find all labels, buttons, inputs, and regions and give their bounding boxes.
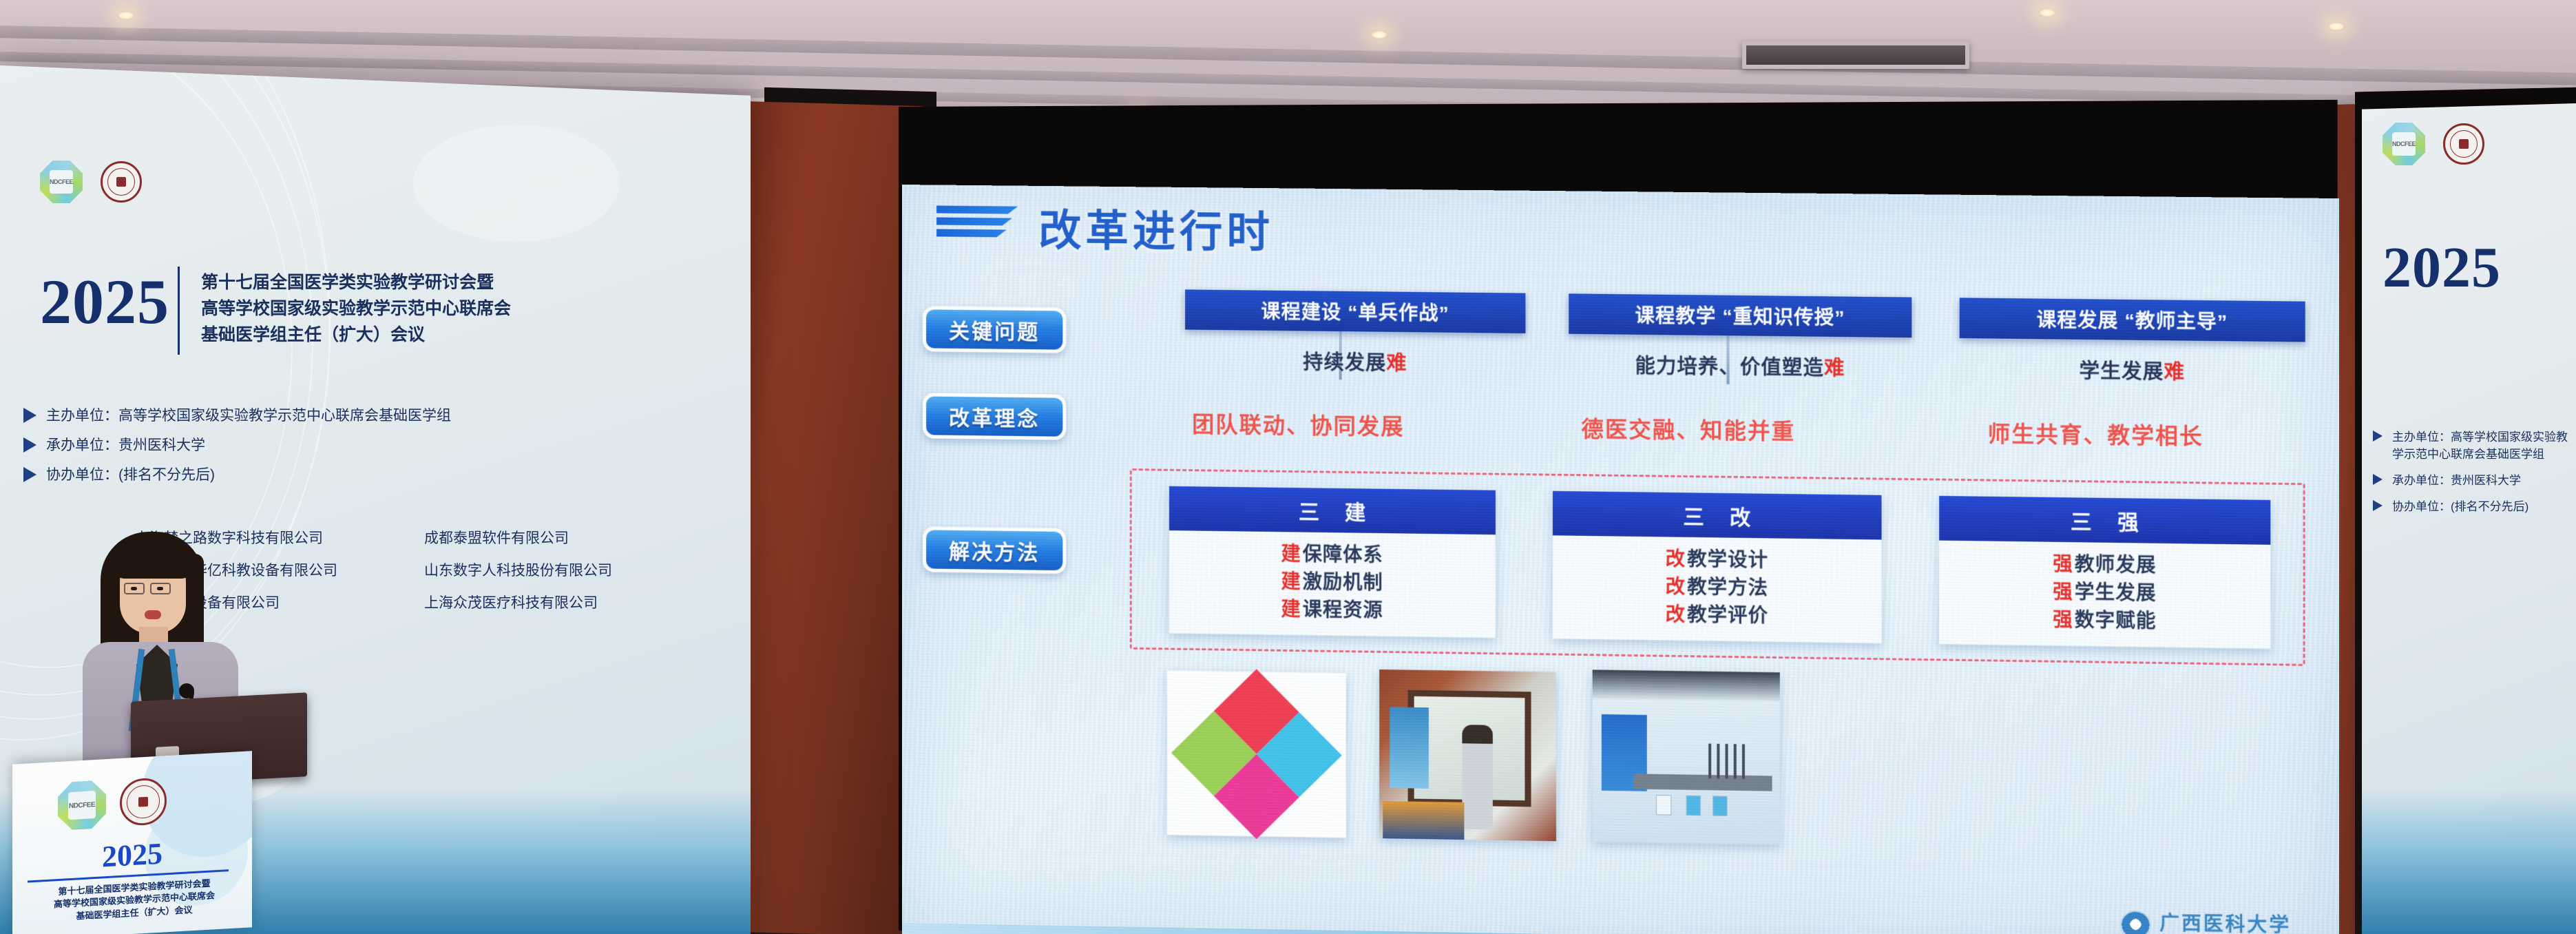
- solution-card: 三 建 建保障体系 建激励机制 建课程资源: [1169, 486, 1496, 638]
- backdrop-logos-right: NDCFEE: [2383, 123, 2484, 165]
- triangle-bullet-icon: [23, 437, 36, 453]
- lab-container: [1686, 795, 1701, 816]
- lab-container: [1713, 796, 1728, 816]
- backdrop-bullet-text: 主办单位：高等学校国家级实验教学示范中心联席会基础医学组: [46, 404, 451, 425]
- row-label-solutions: 解决方法: [923, 526, 1066, 574]
- solution-card-head: 三 改: [1553, 491, 1882, 540]
- reform-idea: 师生共育、教学相长: [1988, 417, 2203, 451]
- reform-idea: 德医交融、知能并重: [1581, 412, 1795, 446]
- backdrop-bullet-text: 协办单位：(排名不分先后): [46, 464, 215, 484]
- podium-title: 第十七届全国医学类实验教学研讨会暨 高等学校国家级实验教学示范中心联席会 基础医…: [22, 875, 247, 926]
- downlight-icon: [2327, 22, 2345, 31]
- display-screen: [1390, 707, 1429, 789]
- backdrop-title-line: 第十七届全国医学类实验教学研讨会暨: [201, 269, 511, 295]
- backdrop-title: 第十七届全国医学类实验教学研讨会暨 高等学校国家级实验教学示范中心联席会 基础医…: [201, 269, 511, 348]
- backdrop-bullet-text: 承办单位：贵州医科大学: [2392, 470, 2521, 488]
- key-problem-column: 课程发展 “教师主导” 学生发展难: [1960, 298, 2305, 386]
- university-seal-icon: [2443, 123, 2484, 165]
- backdrop-bullets-right: 主办单位：高等学校国家级实验教学示范中心联席会基础医学组 承办单位：贵州医科大学…: [2373, 427, 2576, 523]
- key-problem-head: 课程建设 “单兵作战”: [1185, 289, 1525, 333]
- ndcfee-logo-icon: NDCFEE: [2383, 123, 2425, 165]
- page-title: 改革进行时: [1038, 196, 1274, 260]
- solution-item: 改教学评价: [1553, 599, 1882, 631]
- backdrop-divider: [178, 267, 180, 355]
- triangle-bullet-icon: [2373, 430, 2383, 442]
- key-problem-column: 课程教学 “重知识传授” 能力培养、价值塑造难: [1569, 293, 1912, 382]
- solution-item: 强教师发展: [1939, 549, 2270, 581]
- downlight-icon: [117, 11, 135, 20]
- university-seal-icon: [120, 777, 167, 827]
- backdrop-bullets: 主办单位：高等学校国家级实验教学示范中心联席会基础医学组 承办单位：贵州医科大学…: [23, 404, 451, 493]
- projection-screen: 改革进行时 关键问题 课程建设 “单兵作战” 持续发展难 课程教学 “重知识传授…: [902, 185, 2339, 934]
- podium-logos: NDCFEE: [58, 776, 167, 831]
- stage-backdrop-right: NDCFEE 2025 主办单位：高等学校国家级实验教学示范中心联席会基础医学组…: [2362, 103, 2576, 934]
- eye: [131, 587, 137, 590]
- solution-item: 建激励机制: [1169, 566, 1496, 598]
- solution-card-head: 三 强: [1939, 496, 2270, 545]
- ndcfee-logo-icon: NDCFEE: [40, 160, 83, 203]
- hair-fringe: [113, 536, 193, 579]
- puzzle-icon: [1171, 669, 1342, 839]
- triangle-bullet-icon: [23, 408, 36, 423]
- key-problem-head: 课程教学 “重知识传授”: [1569, 293, 1912, 338]
- solution-card-head: 三 建: [1169, 486, 1496, 535]
- key-problem-sub: 学生发展难: [1960, 353, 2305, 386]
- sponsor-name: 山东数字人科技股份有限公司: [424, 559, 612, 580]
- backdrop-bullet-text: 主办单位：高等学校国家级实验教学示范中心联席会基础医学组: [2392, 427, 2576, 461]
- eye: [157, 587, 163, 590]
- mouth: [145, 610, 161, 619]
- solution-item: 改教学设计: [1553, 543, 1882, 575]
- triangle-bullet-icon: [2373, 500, 2383, 511]
- backdrop-bullet-row: 承办单位：贵州医科大学: [2373, 470, 2576, 488]
- lab-ceiling: [1593, 670, 1780, 701]
- pipette-rack: [1708, 744, 1746, 779]
- backdrop-year: 2025: [40, 265, 169, 338]
- backdrop-bullet-row: 承办单位：贵州医科大学: [23, 434, 451, 455]
- reform-idea: 团队联动、协同发展: [1192, 407, 1404, 442]
- solution-item: 强学生发展: [1939, 577, 2270, 609]
- backdrop-year-right: 2025: [2383, 234, 2501, 301]
- microphone-icon: [179, 683, 194, 698]
- solution-card-list: 建保障体系 建激励机制 建课程资源: [1169, 530, 1496, 638]
- downlight-icon: [2038, 8, 2056, 17]
- backdrop-bullet-row: 协办单位：(排名不分先后): [2373, 497, 2576, 514]
- podium-sign: NDCFEE 2025 第十七届全国医学类实验教学研讨会暨 高等学校国家级实验教…: [12, 751, 252, 934]
- backdrop-logos: NDCFEE: [40, 160, 142, 203]
- slide-title-area: 改革进行时: [936, 194, 1274, 260]
- sponsor-name: 上海众茂医疗科技有限公司: [424, 592, 598, 612]
- key-problem-column: 课程建设 “单兵作战” 持续发展难: [1185, 289, 1525, 377]
- solution-item: 强数字赋能: [1939, 604, 2270, 636]
- desk: [1383, 801, 1464, 840]
- conference-hall-scene: NDCFEE 2025 第十七届全国医学类实验教学研讨会暨 高等学校国家级实验教…: [0, 0, 2576, 934]
- key-problem-head: 课程发展 “教师主导”: [1960, 298, 2305, 342]
- backdrop-bullet-row: 主办单位：高等学校国家级实验教学示范中心联席会基础医学组: [23, 404, 451, 425]
- key-problem-sub: 能力培养、价值塑造难: [1569, 349, 1912, 382]
- sponsor-name: 成都泰盟软件有限公司: [424, 527, 569, 548]
- solution-card: 三 强 强教师发展 强学生发展 强数字赋能: [1939, 496, 2270, 649]
- classroom-photo: [1379, 670, 1556, 841]
- university-seal-icon: [101, 161, 142, 203]
- student-figure: [1463, 725, 1493, 830]
- lab-container: [1656, 795, 1671, 816]
- triangle-bullet-icon: [2373, 474, 2383, 485]
- footer-university-name: 广西医科大学: [2159, 908, 2291, 934]
- stripes-icon: [936, 204, 1018, 247]
- backdrop-bullet-row: 主办单位：高等学校国家级实验教学示范中心联席会基础医学组: [2373, 427, 2576, 461]
- backdrop-bullet-row: 协办单位：(排名不分先后): [23, 464, 451, 484]
- key-problem-sub: 持续发展难: [1185, 345, 1525, 378]
- laboratory-photo: [1593, 670, 1780, 844]
- triangle-bullet-icon: [23, 467, 36, 482]
- slide-footer-logo: 广西医科大学 Guangxi Medical University: [2120, 907, 2291, 934]
- solution-item: 建课程资源: [1169, 594, 1496, 625]
- solution-card-list: 强教师发展 强学生发展 强数字赋能: [1939, 541, 2270, 650]
- backdrop-cloud: [413, 125, 620, 242]
- solution-item: 改教学方法: [1553, 571, 1882, 603]
- lab-bench: [1633, 774, 1772, 791]
- backdrop-title-line: 高等学校国家级实验教学示范中心联席会: [201, 295, 511, 322]
- backdrop-bullet-text: 协办单位：(排名不分先后): [2392, 497, 2528, 514]
- backdrop-title-line: 基础医学组主任（扩大）会议: [201, 322, 511, 348]
- air-vent: [1742, 41, 1969, 69]
- backdrop-bullet-text: 承办单位：贵州医科大学: [46, 434, 205, 455]
- puzzle-graphic: [1167, 671, 1346, 838]
- row-label-key-problems: 关键问题: [923, 306, 1066, 353]
- solution-card-list: 改教学设计 改教学方法 改教学评价: [1553, 535, 1882, 643]
- guangxi-seal-icon: [2120, 910, 2151, 934]
- ndcfee-logo-icon: NDCFEE: [58, 780, 106, 831]
- solutions-dashed-container: 三 建 建保障体系 建激励机制 建课程资源 三 改 改教学设计 改教学方法 改教…: [1130, 468, 2305, 666]
- solution-card: 三 改 改教学设计 改教学方法 改教学评价: [1553, 491, 1882, 643]
- backdrop-wave: [2362, 789, 2576, 934]
- downlight-icon: [1370, 30, 1388, 39]
- solution-item: 建保障体系: [1169, 539, 1496, 570]
- row-label-reform-ideas: 改革理念: [923, 393, 1066, 440]
